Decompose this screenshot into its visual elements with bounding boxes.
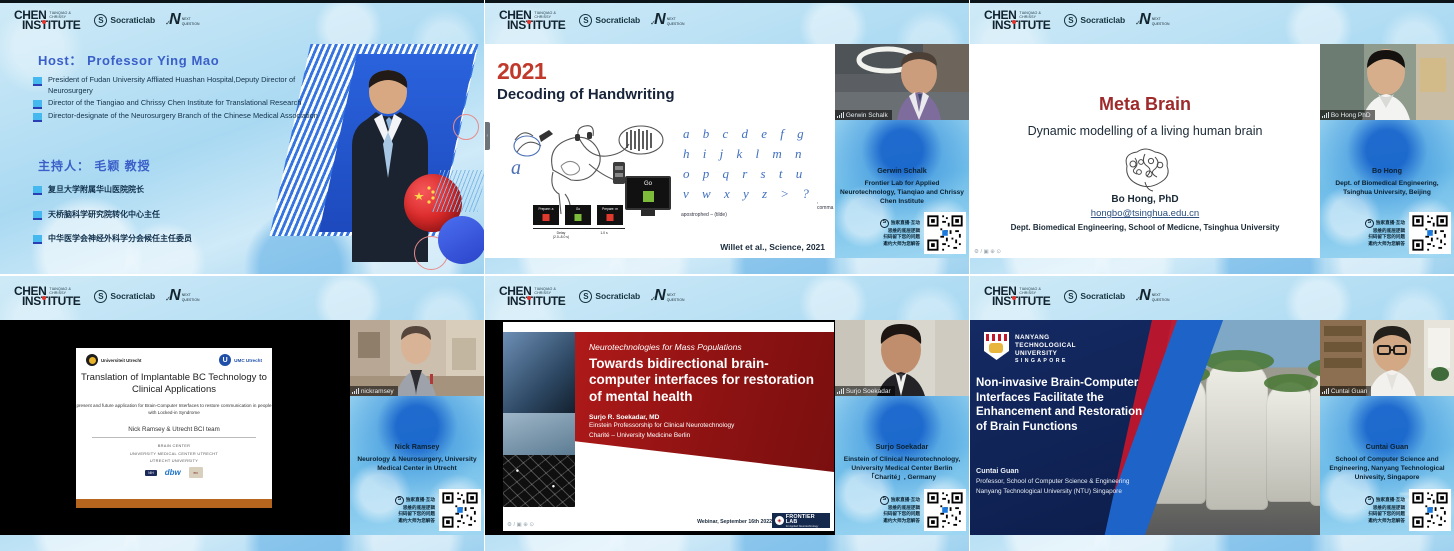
video-name-label: Surjo Soekadar (846, 388, 891, 395)
host-photo (336, 66, 440, 262)
bullet-square-icon (33, 77, 42, 86)
qr-line-3: 扫码留下您的问题 (1365, 511, 1405, 518)
video-name-label: Bo Hong PhD (1331, 112, 1371, 119)
ntu-line-1: NANYANG (1015, 334, 1076, 342)
axis-label-right: 1.0 s (589, 231, 619, 235)
list-item: Director of the Tiangiao and Chrissy Che… (33, 98, 318, 109)
video-name-badge: Surjo Soekadar (835, 386, 895, 396)
qr-line-4: 邀约大师为您解答 (395, 518, 435, 525)
cue-red-square-icon (543, 214, 550, 221)
slide-canvas: Universiteit Utrecht U UMC Utrecht Trans… (76, 348, 272, 508)
ntu-shield-icon (984, 332, 1009, 360)
erc-logo: erc (189, 467, 203, 478)
speaker-affiliation: Frontier Lab for Applied Neurotechnology… (837, 180, 967, 207)
bullet-text: President of Fudan University Affliated … (48, 75, 318, 96)
chip-photo (503, 332, 575, 413)
slide-role: Einstein Professorship for Clinical Neur… (589, 421, 822, 430)
nextquestion-tick-icon: ✓ (1135, 19, 1141, 27)
slide-eyebrow: Neurotechnologies for Mass Populations (589, 342, 822, 352)
campus-tower (1206, 360, 1268, 510)
panel-stage: 2021 Decoding of Handwriting (485, 44, 969, 258)
shared-slide[interactable]: NANYANG TECHNOLOGICAL UNIVERSITY SINGAPO… (970, 320, 1320, 535)
video-name-label: nickramsey (361, 388, 394, 395)
socraticlab-logo: S Socraticlab (1064, 290, 1125, 303)
host-slide-body: Host： Professor Ying Mao President of Fu… (0, 0, 484, 274)
org-line: BRAIN CENTER (76, 442, 272, 449)
panel-top-strip (970, 0, 1454, 3)
speaker-video-frame (835, 44, 969, 120)
slide-title-block: Neurotechnologies for Mass Populations T… (575, 332, 834, 472)
bullet-text: 中华医学会神经外科学分会候任主任委员 (48, 233, 192, 245)
brand-bar: CHEN TIANQIAO &CHRISSY INSTITUTE S Socra… (984, 9, 1169, 31)
slide-webinar-date: Webinar, September 16th 2022 (697, 519, 772, 525)
socraticlab-badge-icon: S (880, 219, 889, 228)
chen-institute-logo: CHEN TIANQIAO &CHRISSY INSTITUTE (14, 285, 80, 307)
socraticlab-label: Socraticlab (110, 15, 155, 25)
slide-author: Nick Ramsey & Utrecht BCI team (76, 426, 272, 433)
socraticlab-badge-icon: S (395, 496, 404, 505)
funder-logos: NIH dbw erc (76, 467, 272, 478)
rooftop-greenery (1204, 350, 1274, 372)
video-name-badge: nickramsey (350, 386, 398, 396)
chen-logo-dot-icon (1012, 20, 1016, 24)
list-item: 复旦大学附属华山医院院长 (33, 184, 293, 196)
umc-gear-icon: U (219, 354, 231, 366)
qr-promo[interactable]: S独家直播·互动 思维的底层逻辑 扫码留下您的问题 邀约大师为您解答 (353, 489, 481, 531)
monitor-green-square-icon (643, 191, 654, 202)
video-tile-speaker[interactable]: Bo Hong PhD (1320, 44, 1454, 120)
chen-logo-dot-icon (42, 20, 46, 24)
nih-logo: NIH (145, 470, 157, 476)
panel-guan[interactable]: CHEN TIANQIAO &CHRISSY INSTITUTE S Socra… (970, 276, 1454, 551)
audio-level-icon (1322, 112, 1329, 118)
brand-bar: CHEN TIANQIAO &CHRISSY INSTITUTE S Socra… (984, 285, 1169, 307)
institute-logo-text: INSTITUTE (507, 19, 565, 31)
nextquestion-subtext: NEXTQUESTION (182, 17, 200, 28)
ntu-logo-text: NANYANG TECHNOLOGICAL UNIVERSITY SINGAPO… (1015, 332, 1076, 365)
socraticlab-badge-icon: S (1365, 219, 1374, 228)
panel-meta-brain[interactable]: CHEN TIANQIAO &CHRISSY INSTITUTE S Socra… (970, 0, 1454, 274)
speaker-video-frame (1320, 320, 1454, 396)
socraticlab-circle-icon: S (1064, 290, 1077, 303)
qr-line-3: 扫码留下您的问题 (1365, 234, 1405, 241)
video-name-badge: Bo Hong PhD (1320, 110, 1375, 120)
qr-code-icon[interactable] (1409, 489, 1451, 531)
host-title: Host： Professor Ying Mao (38, 50, 219, 69)
slide-logos: Universiteit Utrecht U UMC Utrecht (76, 348, 272, 366)
slide-department: Dept. Biomedical Engineering, School of … (970, 223, 1320, 232)
frontier-lab-sub1: Tianqiao & Chrissy Chen Institute (786, 512, 827, 515)
slide-subtitle: present and future application for Brain… (76, 403, 272, 417)
qr-line-1: 独家直播·互动 (891, 220, 920, 227)
speaker-affiliation: Einstein of Clinical Neurotechnology, Un… (837, 456, 967, 483)
speaker-video-frame (835, 320, 969, 396)
list-item: 中华医学会神经外科学分会候任主任委员 (33, 233, 293, 245)
chen-logo-dot-icon (1012, 296, 1016, 300)
slide-org: Charité – University Medicine Berlin (589, 431, 822, 440)
brand-bar: CHEN TIANQIAO &CHRISSY INSTITUTE S Socra… (499, 285, 684, 307)
dbw-logo: dbw (165, 468, 181, 477)
institute-logo-text: INSTITUTE (22, 19, 80, 31)
org-line: UNIVERSITY MEDICAL CENTER UTRECHT (76, 450, 272, 457)
list-item: Director-designate of the Neurosurgery B… (33, 111, 318, 122)
host-bullets-cn: 复旦大学附属华山医院院长 天桥脑科学研究院转化中心主任 中华医学会神经外科学分会… (33, 184, 293, 258)
ntu-line-2: TECHNOLOGICAL (1015, 342, 1076, 350)
socraticlab-label: Socraticlab (110, 291, 155, 301)
brand-bar: CHEN TIANQIAO &CHRISSY INSTITUTE S Socra… (14, 285, 199, 307)
nextquestion-tick-icon: ✓ (1135, 295, 1141, 303)
panel-ramsey[interactable]: CHEN TIANQIAO &CHRISSY INSTITUTE S Socra… (0, 276, 484, 551)
brand-bar: CHEN TIANQIAO &CHRISSY INSTITUTE S Socra… (14, 9, 199, 31)
monitor-stand (641, 210, 655, 216)
speaker-info: Nick Ramsey Neurology & Neurosurgery, Un… (350, 396, 484, 535)
video-name-label: Cuntai Guan (1331, 388, 1368, 395)
timeline-cue: Go (565, 205, 591, 225)
slide-affiliation: Professor, School of Computer Science & … (976, 477, 1148, 496)
participant-rail: Cuntai Guan Cuntai Guan School of Comput… (1320, 320, 1454, 535)
rooftop-greenery (1264, 374, 1318, 392)
list-item: President of Fudan University Affliated … (33, 75, 318, 96)
speaker-affiliation: School of Computer Science and Engineeri… (1322, 456, 1452, 483)
host-bullets-en: President of Fudan University Affliated … (33, 75, 318, 124)
nextquestion-logo: ✓ N NEXTQUESTION (169, 288, 199, 304)
participant-rail: Bo Hong PhD Bo Hong Dept. of Biomedical … (1320, 44, 1454, 258)
speaker-affiliation: Dept. of Biomedical Engineering, Tsinghu… (1322, 180, 1452, 198)
video-tile-speaker[interactable]: Surjo Soekadar (835, 320, 969, 396)
frontier-lab-text: Tianqiao & Chrissy Chen Institute FRONTI… (786, 512, 827, 529)
brain-outline-icon (1115, 148, 1175, 192)
bullet-text: 复旦大学附属华山医院院长 (48, 184, 144, 196)
frontier-lab-logo: ◈ Tianqiao & Chrissy Chen Institute FRON… (772, 513, 830, 528)
slide-author-block: Cuntai Guan Professor, School of Compute… (976, 466, 1148, 496)
speaker-name: Surjo Soekadar (838, 442, 966, 451)
qr-promo-text: S独家直播·互动 思维的底层逻辑 扫码留下您的问题 邀约大师为您解答 (880, 219, 920, 248)
panel-stage: Meta Brain Dynamic modelling of a living… (970, 44, 1454, 258)
audio-level-icon (352, 388, 359, 394)
task-timeline: Prepare: a Go Prepare: m Del (533, 205, 625, 240)
socraticlab-logo: S Socraticlab (94, 290, 155, 303)
socraticlab-logo: S Socraticlab (94, 14, 155, 27)
chen-logo-dot-icon (42, 296, 46, 300)
speaker-info: Bo Hong Dept. of Biomedical Engineering,… (1320, 120, 1454, 258)
nextquestion-tick-icon: ✓ (165, 19, 171, 27)
slide-citation: Willet et al., Science, 2021 (720, 242, 825, 252)
slide-title: Meta Brain (970, 94, 1320, 115)
panel-handwriting[interactable]: ‹ CHEN TIANQIAO &CHRISSY INSTITUTE S Soc… (485, 0, 969, 274)
panel-stage: NANYANG TECHNOLOGICAL UNIVERSITY SINGAPO… (970, 320, 1454, 535)
qr-line-3: 扫码留下您的问题 (395, 511, 435, 518)
video-name-badge: Cuntai Guan (1320, 386, 1371, 396)
umc-logo-label: UMC Utrecht (234, 358, 262, 363)
decor-blue-ball (438, 216, 484, 264)
nextquestion-logo: ✓ N NEXTQUESTION (654, 12, 684, 28)
slide-author: Cuntai Guan (976, 466, 1148, 475)
speaker-info: Cuntai Guan School of Computer Science a… (1320, 396, 1454, 535)
speaker-video-frame (1320, 44, 1454, 120)
bullet-square-icon (33, 235, 42, 244)
timeline-cue: Prepare: m (597, 205, 623, 225)
divider (92, 437, 256, 438)
nextquestion-subtext: NEXTQUESTION (1152, 293, 1170, 304)
bullet-square-icon (33, 100, 42, 109)
rooftop-greenery (1308, 358, 1320, 378)
nextquestion-subtext: NEXTQUESTION (667, 17, 685, 28)
video-tile-speaker[interactable]: Gerwin Schalk (835, 44, 969, 120)
qr-code-icon[interactable] (1409, 212, 1451, 254)
socraticlab-logo: S Socraticlab (1064, 14, 1125, 27)
chen-institute-logo: CHEN TIANQIAO &CHRISSY INSTITUTE (984, 9, 1050, 31)
institute-logo-text: INSTITUTE (992, 19, 1050, 31)
qr-code-icon[interactable] (924, 212, 966, 254)
slide-toolbar[interactable]: ⚙ / ▣ ⊕ ⊙ (507, 522, 534, 528)
slide-canvas: Neurotechnologies for Mass Populations T… (503, 322, 834, 531)
socraticlab-label: Socraticlab (1080, 291, 1125, 301)
video-name-label: Gerwin Schalk (846, 112, 888, 119)
timeline-cue-label: Prepare: a (533, 207, 559, 211)
video-tile-speaker[interactable]: nickramsey (350, 320, 484, 396)
socraticlab-circle-icon: S (1064, 14, 1077, 27)
qr-promo-text: S独家直播·互动 思维的底层逻辑 扫码留下您的问题 邀约大师为您解答 (1365, 496, 1405, 525)
slide-image-column (503, 332, 575, 507)
slide-title: Translation of Implantable BC Technology… (76, 372, 272, 397)
shared-slide[interactable]: Meta Brain Dynamic modelling of a living… (970, 44, 1320, 258)
nextquestion-subtext: NEXTQUESTION (1152, 17, 1170, 28)
nextquestion-subtext: NEXTQUESTION (667, 293, 685, 304)
qr-line-1: 独家直播·互动 (1376, 220, 1405, 227)
timeline-cue-label: Go (565, 207, 591, 211)
slide-email[interactable]: hongbo@tsinghua.edu.cn (970, 208, 1320, 219)
speaker-video-frame (350, 320, 484, 396)
qr-promo[interactable]: S独家直播·互动 思维的底层逻辑 扫码留下您的问题 邀约大师为您解答 (1323, 489, 1451, 531)
speaker-info: Surjo Soekadar Einstein of Clinical Neur… (835, 396, 969, 535)
socraticlab-circle-icon: S (579, 290, 592, 303)
participant-rail: nickramsey Nick Ramsey Neurology & Neuro… (350, 320, 484, 535)
handwriting-note: apostrophed – (tilde) (681, 212, 727, 218)
bullet-square-icon (33, 211, 42, 220)
cue-green-square-icon (575, 214, 582, 221)
qr-promo-text: S独家直播·互动 思维的底层逻辑 扫码留下您的问题 邀约大师为您解答 (1365, 219, 1405, 248)
qr-line-3: 扫码留下您的问题 (880, 511, 920, 518)
host-title-cn: 主持人： 毛颖 教授 (38, 157, 151, 174)
axis-label-left: Delay(2.0–8.0 s) (541, 231, 581, 239)
bullet-text: Director-designate of the Neurosurgery B… (48, 111, 318, 122)
utrecht-seal-icon (86, 354, 98, 366)
institute-logo-text: INSTITUTE (22, 295, 80, 307)
participant-rail: Gerwin Schalk Gerwin Schalk Frontier Lab… (835, 44, 969, 258)
qr-line-4: 邀约大师为您解答 (880, 518, 920, 525)
qr-line-1: 独家直播·互动 (406, 497, 435, 504)
slide-title: Decoding of Handwriting (497, 86, 675, 103)
audio-level-icon (1322, 388, 1329, 394)
utrecht-university-logo: Universiteit Utrecht (86, 354, 142, 366)
cue-red-square-icon (607, 214, 614, 221)
timeline-cue: Prepare: a (533, 205, 559, 225)
qr-promo[interactable]: S独家直播·互动 思维的底层逻辑 扫码留下您的问题 邀约大师为您解答 (838, 212, 966, 254)
shared-slide[interactable]: 2021 Decoding of Handwriting (485, 44, 835, 258)
slide-org-lines: BRAIN CENTER UNIVERSITY MEDICAL CENTER U… (76, 442, 272, 464)
qr-line-4: 邀约大师为您解答 (1365, 241, 1405, 248)
qr-promo-text: S独家直播·互动 思维的底层逻辑 扫码留下您的问题 邀约大师为您解答 (395, 496, 435, 525)
qr-line-4: 邀约大师为您解答 (1365, 518, 1405, 525)
chen-institute-logo: CHEN TIANQIAO &CHRISSY INSTITUTE (499, 9, 565, 31)
slide-author: Bo Hong, PhD (970, 194, 1320, 205)
shared-slide[interactable]: Universiteit Utrecht U UMC Utrecht Trans… (0, 320, 350, 535)
handwriting-letters: a b c d e f gh i j k l m no p q r s t uv… (683, 124, 835, 205)
handwriting-comma-note: , comma (817, 199, 835, 211)
qr-promo[interactable]: S独家直播·互动 思维的底层逻辑 扫码留下您的问题 邀约大师为您解答 (1323, 212, 1451, 254)
panel-soekadar[interactable]: CHEN TIANQIAO &CHRISSY INSTITUTE S Socra… (485, 276, 969, 551)
panel-top-strip (485, 0, 969, 3)
slide-author: Surjo R. Soekadar, MD (589, 414, 822, 421)
slide-accent-bar (76, 499, 272, 508)
chen-institute-logo: CHEN TIANQIAO &CHRISSY INSTITUTE (14, 9, 80, 31)
speaker-name: Bo Hong (1323, 166, 1451, 175)
bullet-text: Director of the Tiangiao and Chrissy Che… (48, 98, 301, 109)
frontier-lab-sub2: for Applied Neurotechnology (786, 526, 827, 529)
timeline-axis: Delay(2.0–8.0 s) 1.0 s (533, 228, 625, 240)
qr-code-icon[interactable] (439, 489, 481, 531)
decor-circle-outline (453, 114, 479, 140)
speaker-info: Gerwin Schalk Frontier Lab for Applied N… (835, 120, 969, 258)
speaker-name: Nick Ramsey (353, 442, 481, 451)
socraticlab-circle-icon: S (94, 290, 107, 303)
slide-year: 2021 (497, 58, 546, 85)
socraticlab-badge-icon: S (880, 496, 889, 505)
nextquestion-logo: ✓ N NEXTQUESTION (654, 288, 684, 304)
nextquestion-subtext: NEXTQUESTION (182, 293, 200, 304)
socraticlab-circle-icon: S (579, 14, 592, 27)
nextquestion-tick-icon: ✓ (650, 295, 656, 303)
patient-photo (503, 413, 575, 455)
panel-stage: Neurotechnologies for Mass Populations T… (485, 320, 969, 535)
shared-slide[interactable]: Neurotechnologies for Mass Populations T… (485, 320, 835, 535)
utrecht-logo-label: Universiteit Utrecht (101, 358, 142, 363)
socraticlab-badge-icon: S (1365, 496, 1374, 505)
bullet-square-icon (33, 186, 42, 195)
svg-text:a: a (511, 157, 521, 179)
video-grid: CHEN TIANQIAO &CHRISSY INSTITUTE S Socra… (0, 0, 1454, 551)
institute-logo-text: INSTITUTE (507, 295, 565, 307)
timeline-cue-label: Prepare: m (597, 207, 623, 211)
monitor-go-label: Go (644, 181, 652, 187)
speaker-name: Gerwin Schalk (838, 166, 966, 175)
video-tile-speaker[interactable]: Cuntai Guan (1320, 320, 1454, 396)
decor-hatch (432, 170, 484, 212)
qr-code-icon[interactable] (924, 489, 966, 531)
slide-toolbar[interactable]: ⚙ / ▣ ⊕ ⊙ (974, 249, 1001, 255)
nextquestion-logo: ✓ N NEXTQUESTION (1139, 12, 1169, 28)
campus-tower (1266, 382, 1314, 502)
audio-level-icon (837, 388, 844, 394)
socraticlab-logo: S Socraticlab (579, 14, 640, 27)
org-line: UTRECHT UNIVERSITY (76, 457, 272, 464)
socraticlab-logo: S Socraticlab (579, 290, 640, 303)
qr-line-1: 独家直播·互动 (891, 497, 920, 504)
panel-scroll-handle[interactable]: ‹ (485, 122, 490, 150)
institute-logo-text: INSTITUTE (992, 295, 1050, 307)
qr-promo[interactable]: S独家直播·互动 思维的底层逻辑 扫码留下您的问题 邀约大师为您解答 (838, 489, 966, 531)
qr-line-4: 邀约大师为您解答 (880, 241, 920, 248)
task-monitor: Go (625, 176, 671, 210)
ntu-line-3: UNIVERSITY (1015, 350, 1076, 358)
panel-host[interactable]: CHEN TIANQIAO &CHRISSY INSTITUTE S Socra… (0, 0, 484, 274)
umc-utrecht-logo: U UMC Utrecht (219, 354, 262, 366)
qr-line-3: 扫码留下您的问题 (880, 234, 920, 241)
bullet-square-icon (33, 113, 42, 122)
chen-institute-logo: CHEN TIANQIAO &CHRISSY INSTITUTE (499, 285, 565, 307)
ntu-line-4: SINGAPORE (1015, 358, 1076, 365)
socraticlab-label: Socraticlab (595, 291, 640, 301)
audio-level-icon (837, 112, 844, 118)
qr-promo-text: S独家直播·互动 思维的底层逻辑 扫码留下您的问题 邀约大师为您解答 (880, 496, 920, 525)
brand-bar: CHEN TIANQIAO &CHRISSY INSTITUTE S Socra… (499, 9, 684, 31)
panel-stage: Universiteit Utrecht U UMC Utrecht Trans… (0, 320, 484, 535)
chen-logo-dot-icon (527, 296, 531, 300)
nextquestion-logo: ✓ N NEXTQUESTION (1139, 288, 1169, 304)
video-name-badge: Gerwin Schalk (835, 110, 892, 120)
socraticlab-label: Socraticlab (595, 15, 640, 25)
socraticlab-circle-icon: S (94, 14, 107, 27)
ntu-logo: NANYANG TECHNOLOGICAL UNIVERSITY SINGAPO… (984, 332, 1076, 365)
slide-title: Towards bidirectional brain-computer int… (589, 356, 822, 405)
speaker-name: Cuntai Guan (1323, 442, 1451, 451)
chen-logo-dot-icon (527, 20, 531, 24)
slide-subtitle: Dynamic modelling of a living human brai… (970, 124, 1320, 138)
nextquestion-logo: ✓ N NEXTQUESTION (169, 12, 199, 28)
nextquestion-tick-icon: ✓ (650, 19, 656, 27)
slide-title: Non-invasive Brain-Computer Interfaces F… (976, 376, 1144, 435)
participant-rail: Surjo Soekadar Surjo Soekadar Einstein o… (835, 320, 969, 535)
frontier-lab-mark-icon: ◈ (775, 516, 784, 525)
qr-line-1: 独家直播·互动 (1376, 497, 1405, 504)
list-item: 天桥脑科学研究院转化中心主任 (33, 209, 293, 221)
speaker-affiliation: Neurology & Neurosurgery, University Med… (352, 456, 482, 474)
chen-institute-logo: CHEN TIANQIAO &CHRISSY INSTITUTE (984, 285, 1050, 307)
network-photo (503, 455, 575, 508)
nextquestion-tick-icon: ✓ (165, 295, 171, 303)
socraticlab-label: Socraticlab (1080, 15, 1125, 25)
bullet-text: 天桥脑科学研究院转化中心主任 (48, 209, 160, 221)
